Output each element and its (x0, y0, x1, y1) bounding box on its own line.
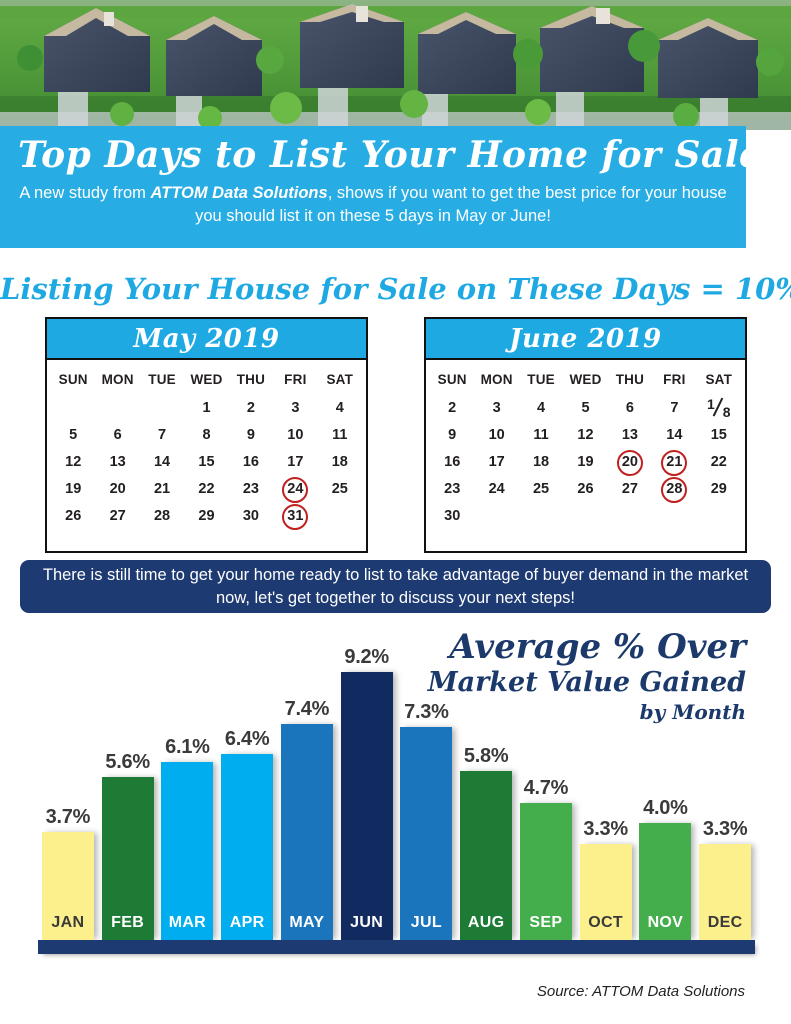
calendar-day[interactable]: 2 (229, 395, 273, 422)
calendar-day[interactable]: 1 (184, 395, 228, 422)
chart-column: 3.7%JAN (38, 620, 98, 940)
bar-jun[interactable]: JUN (341, 672, 393, 940)
calendar-day-empty (474, 503, 518, 530)
calendar-day[interactable]: 3 (273, 395, 317, 422)
calendar-day[interactable]: 30 (430, 503, 474, 530)
bar-nov[interactable]: NOV (639, 823, 691, 940)
bar-month-label: MAY (289, 914, 324, 932)
chart-column: 9.2%JUN (337, 620, 397, 940)
bar-sep[interactable]: SEP (520, 803, 572, 940)
calendar-day[interactable]: 31 (273, 503, 317, 530)
dow-tue: TUE (140, 366, 184, 395)
page-subtitle: A new study from ATTOM Data Solutions, s… (18, 182, 728, 228)
calendar-day[interactable]: 7 (652, 395, 696, 422)
calendar-day-empty (697, 503, 741, 530)
calendar-day[interactable]: 15 (184, 449, 228, 476)
dow-wed: WED (184, 366, 228, 395)
bar-feb[interactable]: FEB (102, 777, 154, 940)
calendar-day[interactable]: 13 (608, 422, 652, 449)
bar-month-label: JUN (350, 914, 383, 932)
chart-column: 5.8%AUG (456, 620, 516, 940)
calendar-day[interactable]: 26 (51, 503, 95, 530)
bar-value-label: 3.3% (583, 818, 627, 841)
calendar-day[interactable]: 12 (563, 422, 607, 449)
infographic-page: Top Days to List Your Home for Sale A ne… (0, 0, 791, 1024)
dow-thu: THU (229, 366, 273, 395)
dow-thu: THU (608, 366, 652, 395)
dow-sat: SAT (697, 366, 741, 395)
calendar-day[interactable]: 29 (184, 503, 228, 530)
calendar-day[interactable]: 21 (140, 476, 184, 503)
calendar-day[interactable]: 2 (430, 395, 474, 422)
chart-column: 5.6%FEB (98, 620, 158, 940)
bar-month-label: AUG (468, 914, 504, 932)
calendar-day[interactable]: 22 (184, 476, 228, 503)
calendar-day[interactable]: 18 (697, 395, 741, 422)
hero-aerial-neighborhood-photo (0, 0, 791, 130)
calendar-day[interactable]: 5 (51, 422, 95, 449)
calendar-day[interactable]: 22 (697, 449, 741, 476)
calendar-day[interactable]: 25 (519, 476, 563, 503)
subtitle-pre: A new study from (19, 184, 150, 202)
dow-tue: TUE (519, 366, 563, 395)
chart-column: 7.4%MAY (277, 620, 337, 940)
bar-mar[interactable]: MAR (161, 762, 213, 940)
calendar-day[interactable]: 20 (95, 476, 139, 503)
calendar-day[interactable]: 13 (95, 449, 139, 476)
calendar-day[interactable]: 4 (318, 395, 362, 422)
calendar-day[interactable]: 28 (652, 476, 696, 503)
calendar-day-empty (563, 503, 607, 530)
bar-value-label: 9.2% (344, 646, 388, 669)
calendar-june-grid: SUN MON TUE WED THU FRI SAT 234567189101… (426, 360, 745, 534)
dow-mon: MON (95, 366, 139, 395)
chart-column: 3.3%DEC (695, 620, 755, 940)
calendar-day-empty (608, 503, 652, 530)
dow-mon: MON (474, 366, 518, 395)
cta-banner: There is still time to get your home rea… (20, 560, 771, 613)
calendar-day[interactable]: 27 (95, 503, 139, 530)
chart-column: 7.3%JUL (397, 620, 457, 940)
calendar-day[interactable]: 29 (697, 476, 741, 503)
bar-chart: Average % Over Market Value Gained by Mo… (0, 620, 791, 970)
chart-baseline-axis (38, 940, 755, 954)
calendar-day[interactable]: 18 (519, 449, 563, 476)
chart-column: 4.0%NOV (636, 620, 696, 940)
chart-column: 6.4%APR (217, 620, 277, 940)
calendar-day[interactable]: 26 (563, 476, 607, 503)
calendar-day[interactable]: 17 (474, 449, 518, 476)
calendar-june-title: June 2019 (426, 319, 745, 360)
highlight-circle-icon (617, 450, 643, 476)
subtitle-emphasis: ATTOM Data Solutions (150, 184, 327, 202)
bar-value-label: 4.7% (524, 777, 568, 800)
dow-sun: SUN (51, 366, 95, 395)
calendar-day[interactable]: 7 (140, 422, 184, 449)
bar-value-label: 3.3% (703, 818, 747, 841)
highlight-circle-icon (282, 504, 308, 530)
calendar-day[interactable]: 23 (229, 476, 273, 503)
calendar-day[interactable]: 12 (51, 449, 95, 476)
calendar-day-empty (95, 395, 139, 422)
calendar-day[interactable]: 17 (273, 449, 317, 476)
calendar-day[interactable]: 24 (474, 476, 518, 503)
calendar-day[interactable]: 30 (229, 503, 273, 530)
bar-aug[interactable]: AUG (460, 771, 512, 940)
bar-value-label: 4.0% (643, 797, 687, 820)
bar-oct[interactable]: OCT (580, 844, 632, 940)
bar-month-label: SEP (529, 914, 562, 932)
calendar-day[interactable]: 19 (563, 449, 607, 476)
calendar-day[interactable]: 14 (652, 422, 696, 449)
calendar-day-empty (140, 395, 184, 422)
calendar-may-grid: SUN MON TUE WED THU FRI SAT 123456789101… (47, 360, 366, 534)
calendar-day[interactable]: 16 (430, 449, 474, 476)
calendar-day[interactable]: 4 (519, 395, 563, 422)
calendar-june-2019: June 2019 SUN MON TUE WED THU FRI SAT 23… (424, 317, 747, 553)
dow-sat: SAT (318, 366, 362, 395)
bar-value-label: 7.3% (404, 701, 448, 724)
calendar-day[interactable]: 3 (474, 395, 518, 422)
calendar-day-empty (318, 503, 362, 530)
bar-may[interactable]: MAY (281, 724, 333, 940)
title-banner: Top Days to List Your Home for Sale A ne… (0, 126, 746, 248)
calendar-day[interactable]: 6 (95, 422, 139, 449)
highlight-circle-icon (282, 477, 308, 503)
bar-month-label: NOV (648, 914, 684, 932)
bar-month-label: APR (230, 914, 265, 932)
bar-value-label: 5.6% (105, 751, 149, 774)
bar-jul[interactable]: JUL (400, 727, 452, 940)
page-title: Top Days to List Your Home for Sale (18, 130, 728, 180)
bar-month-label: OCT (588, 914, 623, 932)
bar-month-label: MAR (169, 914, 206, 932)
dow-fri: FRI (652, 366, 696, 395)
calendar-day[interactable]: 16 (229, 449, 273, 476)
calendar-day-empty (652, 503, 696, 530)
calendar-day[interactable]: 5 (563, 395, 607, 422)
bar-value-label: 5.8% (464, 745, 508, 768)
chart-column: 6.1%MAR (158, 620, 218, 940)
dow-sun: SUN (430, 366, 474, 395)
calendar-day[interactable]: 23 (430, 476, 474, 503)
chart-column: 4.7%SEP (516, 620, 576, 940)
section-headline: Listing Your House for Sale on These Day… (0, 272, 791, 306)
calendar-day[interactable]: 6 (608, 395, 652, 422)
calendar-day-fraction: 18 (711, 395, 727, 423)
calendar-day-empty (519, 503, 563, 530)
calendar-may-title: May 2019 (47, 319, 366, 360)
calendar-day[interactable]: 14 (140, 449, 184, 476)
dow-wed: WED (563, 366, 607, 395)
bar-dec[interactable]: DEC (699, 844, 751, 940)
bar-month-label: DEC (708, 914, 743, 932)
highlight-circle-icon (661, 477, 687, 503)
bar-value-label: 3.7% (46, 806, 90, 829)
bar-value-label: 6.1% (165, 736, 209, 759)
calendar-day[interactable]: 25 (318, 476, 362, 503)
dow-fri: FRI (273, 366, 317, 395)
calendar-may-2019: May 2019 SUN MON TUE WED THU FRI SAT 123… (45, 317, 368, 553)
calendar-day[interactable]: 18 (318, 449, 362, 476)
calendar-day[interactable]: 21 (652, 449, 696, 476)
calendar-day[interactable]: 28 (140, 503, 184, 530)
calendar-day[interactable]: 9 (430, 422, 474, 449)
source-note: Source: ATTOM Data Solutions (537, 983, 745, 1000)
calendar-day[interactable]: 9 (229, 422, 273, 449)
bar-month-label: JUL (411, 914, 442, 932)
highlight-circle-icon (661, 450, 687, 476)
chart-column: 3.3%OCT (576, 620, 636, 940)
calendar-day[interactable]: 8 (184, 422, 228, 449)
calendar-day[interactable]: 20 (608, 449, 652, 476)
calendar-day[interactable]: 11 (519, 422, 563, 449)
calendar-day[interactable]: 24 (273, 476, 317, 503)
bar-value-label: 7.4% (285, 698, 329, 721)
calendar-day[interactable]: 10 (273, 422, 317, 449)
calendar-day[interactable]: 10 (474, 422, 518, 449)
bar-apr[interactable]: APR (221, 754, 273, 940)
calendar-day[interactable]: 19 (51, 476, 95, 503)
bar-month-label: FEB (111, 914, 144, 932)
calendar-day[interactable]: 11 (318, 422, 362, 449)
chart-plot-area: 3.7%JAN5.6%FEB6.1%MAR6.4%APR7.4%MAY9.2%J… (38, 620, 755, 940)
calendar-day[interactable]: 27 (608, 476, 652, 503)
calendar-day-empty (51, 395, 95, 422)
calendar-day[interactable]: 15 (697, 422, 741, 449)
bar-month-label: JAN (51, 914, 84, 932)
bar-jan[interactable]: JAN (42, 832, 94, 940)
bar-value-label: 6.4% (225, 728, 269, 751)
